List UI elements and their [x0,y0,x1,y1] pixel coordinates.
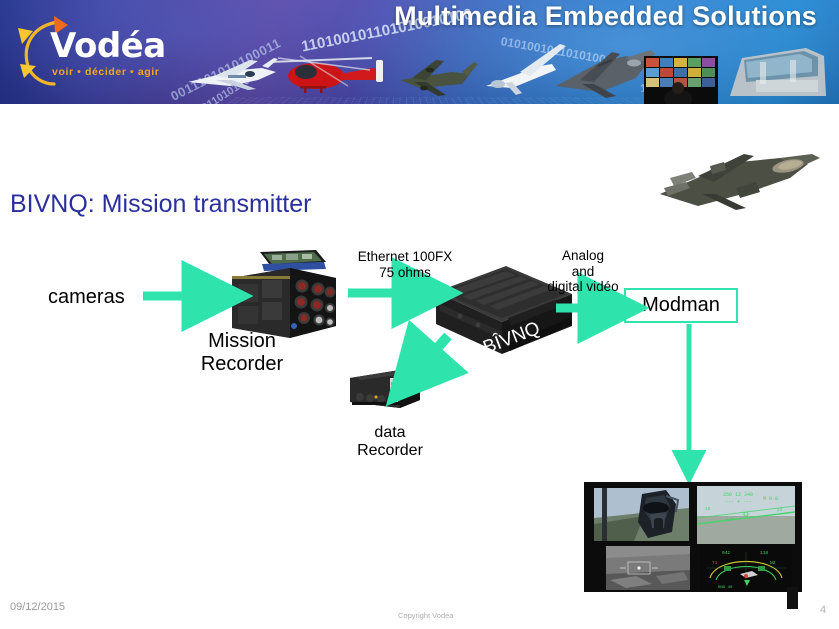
header-title: Multimedia Embedded Solutions [394,1,817,32]
label-analog-line2: and [528,264,638,280]
video-quadrant-tactical-map: 042 118 T1 N2 RNG 40 [700,544,792,592]
svg-text:118: 118 [760,550,768,556]
vodea-logo: Vodéa voir • décider • agir [8,8,176,96]
mission-recorder-device-photo [226,250,344,342]
svg-text:18: 18 [705,506,711,512]
fighter-jet-photo [556,50,656,98]
video-quadrant-hud-display: 250 12 340 --- + --- M 0.8 18 22 5.0 [697,486,795,544]
binary-decoration-5: 0011010100 [195,74,252,104]
video-quad-display-photo: 250 12 340 --- + --- M 0.8 18 22 5.0 042… [584,482,802,592]
binary-decoration-1: 0011101010100011 [168,35,283,104]
svg-text:N2: N2 [770,560,776,566]
label-analog-video-link: Analog and digital vidéo [528,248,638,295]
header-banner: 0011101010100011 110100101101010010100 0… [0,0,839,104]
footer-page-number: 4 [820,604,826,616]
svg-text:250 12 340: 250 12 340 [723,492,753,498]
data-recorder-device-photo [346,366,424,414]
logo-tagline: voir • décider • agir [52,66,159,78]
svg-text:042: 042 [722,550,730,556]
business-jet-photo [188,58,278,90]
svg-text:RNG 40: RNG 40 [718,586,733,590]
video-quadrant-pilot-cockpit [594,488,689,541]
binary-decoration-3: 0101001011010100101 [500,34,627,70]
label-ethernet-link: Ethernet 100FX 75 ohms [340,249,470,280]
label-data-recorder-line1: data [330,424,450,442]
binary-decoration-4: 100101001010 [640,73,714,95]
footer-black-tab [787,587,798,609]
label-mission-recorder: Mission Recorder [182,330,302,376]
svg-text:M 0.8: M 0.8 [763,496,778,502]
glider-photo [486,44,566,95]
label-data-recorder-line2: Recorder [330,442,450,460]
label-mission-recorder-line1: Mission [182,330,302,353]
modman-label: Modman [626,294,736,317]
page-title: BIVNQ: Mission transmitter [10,190,311,219]
footer-date: 09/12/2015 [10,601,65,613]
label-ethernet-line2: 75 ohms [340,265,470,281]
svg-text:22: 22 [777,507,783,513]
video-quadrant-infrared-terrain [606,546,690,590]
label-cameras: cameras [48,286,125,309]
header-wire-mesh-decoration [140,97,780,104]
video-control-room-photo [644,56,718,104]
footer-copyright: Copyright Vodéa [398,611,453,620]
tram-photo [730,48,826,96]
svg-text:5.0: 5.0 [725,516,733,522]
rafale-fighter-jet-photo [640,148,830,220]
modman-box[interactable]: Modman [624,288,738,323]
label-data-recorder: data Recorder [330,424,450,461]
label-ethernet-line1: Ethernet 100FX [340,249,470,265]
label-analog-line3: digital vidéo [528,279,638,295]
label-mission-recorder-line2: Recorder [182,353,302,376]
svg-text:--- + ---: --- + --- [725,499,752,505]
red-helicopter-photo [270,56,384,93]
svg-text:T1: T1 [712,560,718,566]
label-analog-line1: Analog [528,248,638,264]
military-transport-aircraft-photo [400,60,478,96]
logo-wordmark: Vodéa [50,26,166,66]
